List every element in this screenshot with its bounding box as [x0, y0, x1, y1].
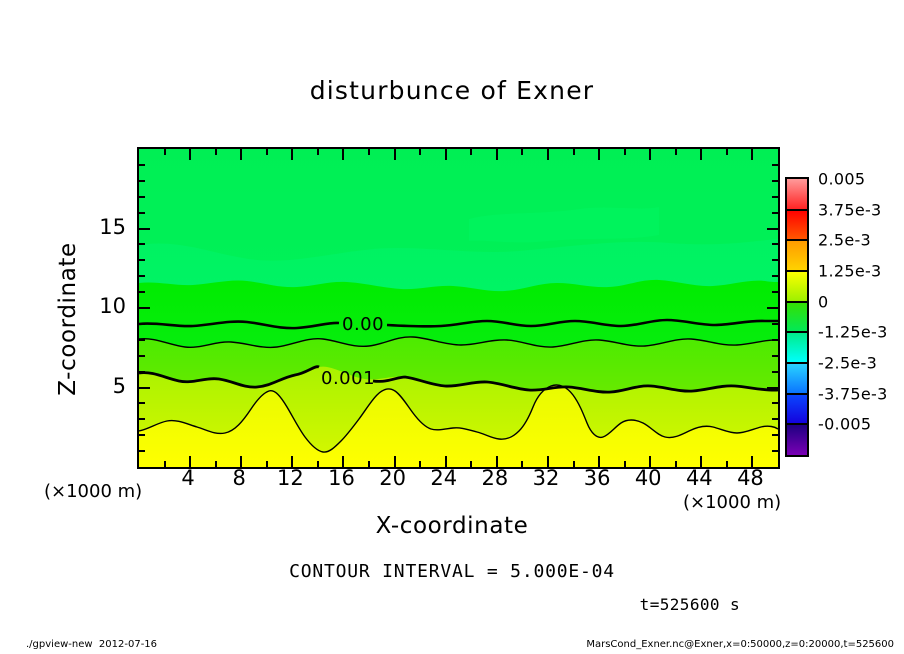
contour-label-0001: 0.001: [321, 368, 375, 389]
axis-tick: [139, 339, 145, 341]
axis-tick: [496, 149, 498, 160]
x-axis-tick-label: 4: [181, 466, 194, 490]
axis-tick: [772, 339, 778, 341]
axis-tick: [317, 461, 319, 467]
x-axis-tick-label: 36: [584, 466, 611, 490]
axis-tick: [139, 259, 145, 261]
x-axis-tick-label: 32: [533, 466, 560, 490]
axis-tick: [751, 149, 753, 160]
axis-tick: [139, 387, 150, 389]
colorbar-separator: [787, 270, 807, 272]
axis-tick: [772, 371, 778, 373]
axis-tick: [772, 450, 778, 452]
axis-tick: [419, 149, 421, 155]
x-axis-tick-label: 24: [430, 466, 457, 490]
colorbar: [785, 177, 809, 457]
colorbar-tick-label: -0.005: [818, 415, 871, 434]
colorbar-band: [787, 210, 807, 241]
colorbar-band: [787, 332, 807, 363]
z-axis-unit-label: (×1000 m): [44, 481, 142, 502]
axis-tick: [139, 196, 145, 198]
colorbar-tick-label: 3.75e-3: [818, 200, 882, 219]
x-axis-tick-label: 20: [379, 466, 406, 490]
axis-tick: [767, 307, 778, 309]
axis-tick: [547, 149, 549, 160]
axis-tick: [726, 461, 728, 467]
axis-tick: [139, 243, 145, 245]
colorbar-separator: [787, 331, 807, 333]
axis-tick: [772, 402, 778, 404]
axis-tick: [139, 402, 145, 404]
colorbar-band: [787, 179, 807, 210]
axis-tick: [772, 243, 778, 245]
axis-tick: [700, 149, 702, 160]
axis-tick: [419, 461, 421, 467]
colorbar-tick-label: 1.25e-3: [818, 262, 882, 281]
colorbar-separator: [787, 423, 807, 425]
axis-tick: [139, 371, 145, 373]
axis-tick: [624, 149, 626, 155]
axis-tick: [215, 461, 217, 467]
axis-tick: [573, 461, 575, 467]
axis-tick: [317, 149, 319, 155]
axis-tick: [521, 149, 523, 155]
contour-field: [139, 149, 778, 467]
axis-tick: [772, 164, 778, 166]
colorbar-band: [787, 363, 807, 394]
axis-tick: [139, 275, 145, 277]
x-axis-tick-label: 28: [481, 466, 508, 490]
colorbar-tick-label: 0.005: [818, 170, 865, 189]
colorbar-separator: [787, 209, 807, 211]
axis-tick: [394, 149, 396, 160]
axis-tick: [266, 149, 268, 155]
footer-dataset-info: MarsCond_Exner.nc@Exner,x=0:50000,z=0:20…: [586, 639, 894, 650]
axis-tick: [240, 149, 242, 160]
x-axis-tick-label: 8: [233, 466, 246, 490]
axis-tick: [164, 461, 166, 467]
colorbar-tick-label: -2.5e-3: [818, 354, 877, 373]
colorbar-tick-label: 0: [818, 292, 828, 311]
y-axis-tick-label: 15: [92, 215, 126, 239]
colorbar-separator: [787, 301, 807, 303]
x-axis-unit-label: (×1000 m): [683, 492, 781, 513]
contour-plot-area: 0.00 0.001: [137, 147, 780, 469]
x-axis-tick-label: 12: [277, 466, 304, 490]
axis-tick: [624, 461, 626, 467]
axis-tick: [445, 149, 447, 160]
contour-interval-note: CONTOUR INTERVAL = 5.000E-04: [0, 561, 904, 582]
axis-tick: [767, 228, 778, 230]
axis-tick: [342, 149, 344, 160]
axis-tick: [139, 307, 150, 309]
colorbar-separator: [787, 362, 807, 364]
x-axis-tick-label: 40: [635, 466, 662, 490]
colorbar-separator: [787, 239, 807, 241]
colorbar-tick-label: 2.5e-3: [818, 231, 871, 250]
axis-tick: [598, 149, 600, 160]
axis-tick: [139, 450, 145, 452]
plot-canvas: disturbunce of Exner: [0, 0, 904, 654]
y-axis-tick-label: 10: [92, 294, 126, 318]
axis-tick: [772, 323, 778, 325]
time-annotation: t=525600 s: [640, 595, 740, 614]
axis-tick: [675, 149, 677, 155]
axis-tick: [139, 180, 145, 182]
x-axis-tick-label: 48: [737, 466, 764, 490]
axis-tick: [772, 196, 778, 198]
axis-tick: [139, 291, 145, 293]
axis-tick: [675, 461, 677, 467]
colorbar-band: [787, 271, 807, 302]
axis-tick: [772, 180, 778, 182]
colorbar-separator: [787, 393, 807, 395]
axis-tick: [772, 434, 778, 436]
footer-command: ./gpview-new 2012-07-16: [26, 639, 157, 650]
axis-tick: [521, 461, 523, 467]
axis-tick: [772, 259, 778, 261]
axis-tick: [139, 418, 145, 420]
axis-tick: [215, 149, 217, 155]
colorbar-tick-label: -3.75e-3: [818, 384, 888, 403]
axis-tick: [189, 149, 191, 160]
x-axis-title: X-coordinate: [0, 513, 904, 539]
axis-tick: [649, 149, 651, 160]
axis-tick: [139, 323, 145, 325]
axis-tick: [470, 461, 472, 467]
x-axis-tick-label: 44: [686, 466, 713, 490]
axis-tick: [139, 228, 150, 230]
axis-tick: [139, 164, 145, 166]
colorbar-band: [787, 240, 807, 271]
axis-tick: [772, 418, 778, 420]
axis-tick: [772, 275, 778, 277]
axis-tick: [368, 461, 370, 467]
axis-tick: [139, 434, 145, 436]
axis-tick: [470, 149, 472, 155]
axis-tick: [767, 387, 778, 389]
x-axis-tick-label: 16: [328, 466, 355, 490]
axis-tick: [772, 355, 778, 357]
y-axis-tick-label: 5: [92, 374, 126, 398]
axis-tick: [726, 149, 728, 155]
axis-tick: [772, 212, 778, 214]
axis-tick: [164, 149, 166, 155]
axis-tick: [266, 461, 268, 467]
axis-tick: [368, 149, 370, 155]
colorbar-tick-label: -1.25e-3: [818, 323, 888, 342]
colorbar-band: [787, 302, 807, 333]
colorbar-band: [787, 424, 807, 455]
axis-tick: [139, 355, 145, 357]
colorbar-band: [787, 394, 807, 425]
contour-label-0: 0.00: [342, 314, 384, 335]
axis-tick: [772, 291, 778, 293]
axis-tick: [139, 212, 145, 214]
y-axis-title: Z-coordinate: [55, 199, 81, 439]
axis-tick: [573, 149, 575, 155]
axis-tick: [291, 149, 293, 160]
page-title: disturbunce of Exner: [0, 76, 904, 105]
